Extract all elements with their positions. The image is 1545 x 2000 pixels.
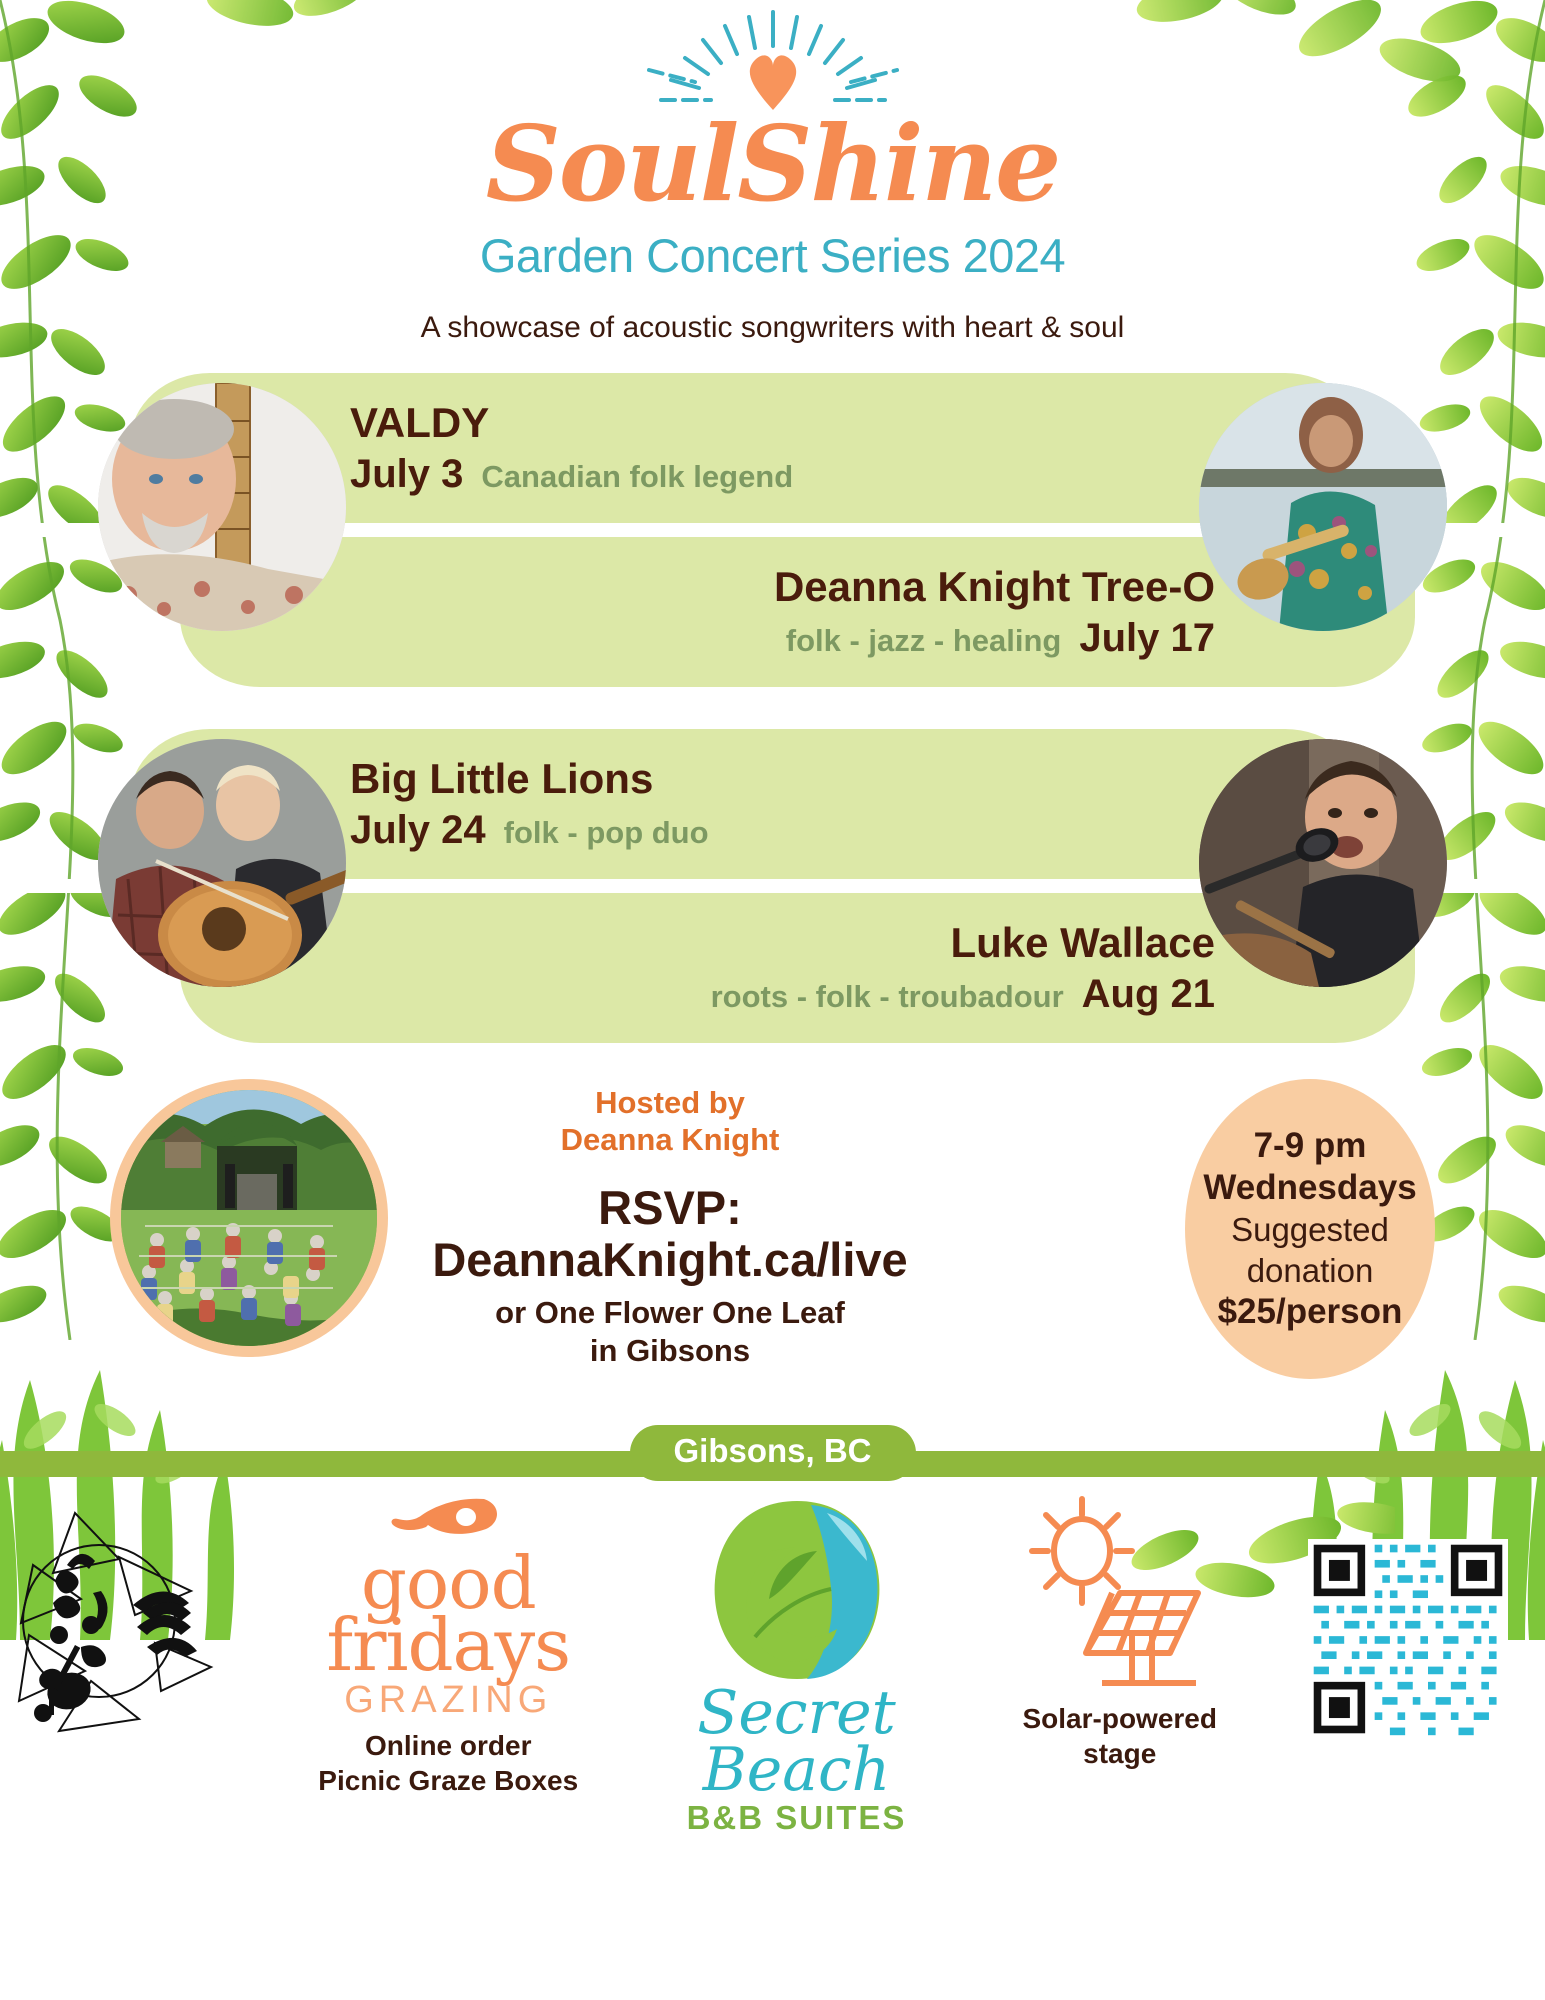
artist-name: Deanna Knight Tree-O [774,563,1215,611]
good-fridays-caption-line1: Online order [365,1730,531,1761]
sponsor-secret-beach[interactable]: Secret Beach B&B SUITES [647,1495,947,1837]
info-section: Hosted by Deanna Knight RSVP: DeannaKnig… [0,1079,1545,1379]
artist-genre: roots - folk - troubadour [711,979,1064,1015]
sponsor-solar[interactable]: Solar-powered stage [995,1495,1245,1771]
series-subtitle: Garden Concert Series 2024 [0,228,1545,283]
rsvp-block: Hosted by Deanna Knight RSVP: DeannaKnig… [410,1085,930,1371]
secret-beach-word2: B&B SUITES [687,1799,907,1837]
artist-group-2: Big Little Lions July 24 folk - pop duo … [0,729,1545,1043]
valdy-photo [98,383,346,631]
good-fridays-caption-line2: Picnic Graze Boxes [318,1765,578,1796]
qr-code-icon [1308,1539,1508,1739]
donation-amount: $25/person [1218,1291,1403,1333]
sponsor-good-fridays[interactable]: good fridays GRAZING Online order Picnic… [298,1495,598,1798]
artist-name: Big Little Lions [350,755,653,803]
donation-label-line2: donation [1247,1250,1374,1291]
qr-code[interactable] [1293,1495,1523,1739]
page-title: SoulShine [0,112,1545,216]
schedule-badge: 7-9 pm Wednesdays Suggested donation $25… [1185,1079,1435,1379]
donation-label-line1: Suggested [1231,1209,1389,1250]
good-fridays-word2: fridays [326,1615,570,1677]
deanna-knight-photo [1199,383,1447,631]
sponsor-row: good fridays GRAZING Online order Picnic… [0,1477,1545,1807]
good-fridays-word3: GRAZING [344,1679,552,1722]
artist-name: Luke Wallace [950,919,1215,967]
luke-wallace-photo [1199,739,1447,987]
solar-panel-icon [1020,1495,1220,1695]
artist-group-1: VALDY July 3 Canadian folk legend Deanna… [0,373,1545,687]
artist-date: July 3 [350,452,463,497]
artist-date: July 24 [350,808,486,853]
hosted-by-line1: Hosted by [595,1085,745,1120]
jazz-logo-icon [15,1495,245,1735]
secret-beach-word1: Secret Beach [647,1685,947,1799]
solar-caption-line2: stage [1083,1738,1156,1769]
artist-lineup: VALDY July 3 Canadian folk legend Deanna… [0,373,1545,1043]
tagline: A showcase of acoustic songwriters with … [0,311,1545,345]
rsvp-label: RSVP: [410,1182,930,1234]
solar-caption-line1: Solar-powered [1023,1703,1217,1734]
garden-audience-photo [110,1079,388,1357]
rsvp-alt-line2: in Gibsons [590,1333,750,1368]
poster-root: SoulShine Garden Concert Series 2024 A s… [0,0,1545,2000]
location-divider: Gibsons, BC [0,1425,1545,1477]
sponsor-jazz[interactable] [10,1495,250,1735]
secret-beach-logo-icon [707,1495,887,1685]
artist-genre: folk - jazz - healing [786,623,1062,659]
artist-genre: Canadian folk legend [481,459,793,495]
hosted-by-line2: Deanna Knight [561,1122,780,1157]
artist-date: Aug 21 [1082,972,1215,1017]
artist-date: July 17 [1079,616,1215,661]
artist-genre: folk - pop duo [504,815,709,851]
schedule-time: 7-9 pm [1254,1125,1367,1167]
rsvp-url-link[interactable]: DeannaKnight.ca/live [410,1234,930,1286]
big-little-lions-photo [98,739,346,987]
location-pill: Gibsons, BC [629,1425,915,1481]
poster-header: SoulShine Garden Concert Series 2024 A s… [0,0,1545,345]
rsvp-alt-line1: or One Flower One Leaf [495,1295,845,1330]
artist-name: VALDY [350,399,489,447]
schedule-day: Wednesdays [1203,1167,1416,1209]
